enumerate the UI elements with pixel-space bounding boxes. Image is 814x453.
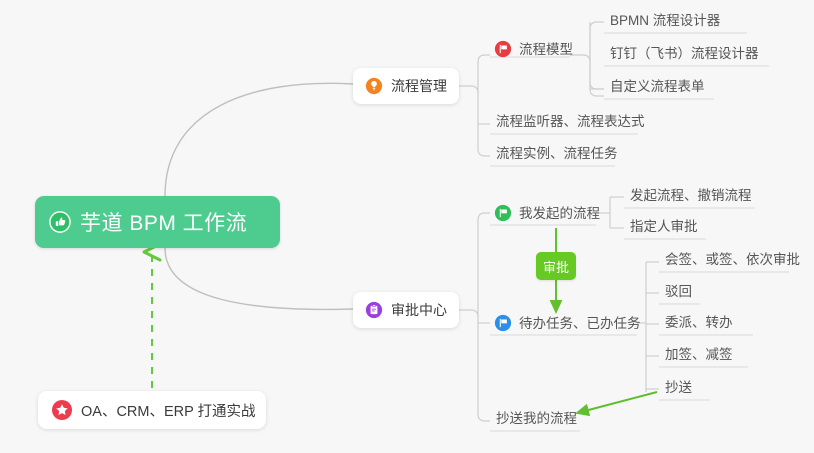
- edge-process-to-model: [478, 55, 490, 93]
- edge-approval-to-mine: [478, 213, 490, 317]
- leaf-custom-process-form-label: 自定义流程表单: [610, 79, 705, 94]
- leaf-add-remove-sign-label: 加签、减签: [665, 347, 733, 362]
- leaf-instance-task-label: 流程实例、流程任务: [496, 146, 618, 161]
- leaf-process-model[interactable]: 流程模型: [492, 40, 577, 62]
- card-integration-practice[interactable]: OA、CRM、ERP 打通实战: [38, 391, 266, 429]
- leaf-bpmn-designer-label: BPMN 流程设计器: [610, 13, 720, 28]
- leaf-todo-done-tasks[interactable]: 待办任务、已办任务: [492, 314, 645, 336]
- leaf-assignee-approve-label: 指定人审批: [630, 219, 698, 234]
- branch-label-process-management: 流程管理: [391, 76, 447, 96]
- edge-root-to-process: [165, 83, 353, 196]
- edge-approval-bus: [459, 310, 490, 421]
- leaf-my-initiated-label: 我发起的流程: [519, 205, 600, 222]
- leaf-cc[interactable]: 抄送: [661, 379, 696, 400]
- leaf-dingtalk-feishu-designer[interactable]: 钉钉（飞书）流程设计器: [606, 45, 763, 66]
- branch-label-approval-center: 审批中心: [391, 300, 447, 320]
- thumbs-up-icon: [49, 211, 71, 233]
- leaf-custom-process-form[interactable]: 自定义流程表单: [606, 78, 709, 99]
- clipboard-icon: [365, 301, 383, 319]
- leaf-countersign[interactable]: 会签、或签、依次审批: [661, 251, 804, 272]
- leaf-reject[interactable]: 驳回: [661, 283, 696, 304]
- leaf-assignee-approve[interactable]: 指定人审批: [626, 218, 702, 239]
- leaf-start-cancel-label: 发起流程、撤销流程: [630, 188, 752, 203]
- flag-blue-icon: [494, 314, 512, 332]
- branch-card-process-management[interactable]: 流程管理: [353, 68, 459, 104]
- leaf-delegate-transfer-label: 委派、转办: [665, 315, 733, 330]
- leaf-cc-to-me[interactable]: 抄送我的流程: [492, 410, 581, 431]
- flag-red-icon: [494, 40, 512, 58]
- leaf-cc-to-me-label: 抄送我的流程: [496, 411, 577, 426]
- leaf-start-cancel[interactable]: 发起流程、撤销流程: [626, 187, 756, 208]
- flag-green-icon: [494, 204, 512, 222]
- leaf-delegate-transfer[interactable]: 委派、转办: [661, 314, 737, 335]
- leaf-dingtalk-feishu-designer-label: 钉钉（飞书）流程设计器: [610, 46, 759, 61]
- edge-model-to-selfform: [590, 82, 604, 96]
- leaf-todo-done-tasks-label: 待办任务、已办任务: [519, 315, 641, 332]
- edge-cc-to-ccme: [577, 392, 657, 413]
- star-icon: [51, 399, 73, 421]
- root-node[interactable]: 芋道 BPM 工作流: [35, 196, 280, 248]
- leaf-process-model-label: 流程模型: [519, 41, 573, 58]
- edge-model-to-bpmn: [590, 22, 604, 62]
- edge-model-to-custom: [590, 82, 604, 96]
- leaf-countersign-label: 会签、或签、依次审批: [665, 252, 800, 267]
- leaf-listener-expression[interactable]: 流程监听器、流程表达式: [492, 113, 649, 134]
- edge-root-to-approval: [165, 248, 353, 309]
- leaf-cc-label: 抄送: [665, 380, 692, 395]
- root-label: 芋道 BPM 工作流: [80, 207, 247, 237]
- leaf-reject-label: 驳回: [665, 284, 692, 299]
- leaf-add-remove-sign[interactable]: 加签、减签: [661, 346, 737, 367]
- leaf-bpmn-designer[interactable]: BPMN 流程设计器: [606, 12, 724, 33]
- badge-approve-label: 审批: [543, 257, 569, 276]
- lightbulb-icon: [365, 77, 383, 95]
- branch-card-approval-center[interactable]: 审批中心: [353, 292, 459, 328]
- card-integration-label: OA、CRM、ERP 打通实战: [81, 400, 256, 421]
- edge-process-bus: [459, 86, 490, 156]
- mindmap-canvas: 芋道 BPM 工作流 流程管理 审批中心: [0, 0, 814, 453]
- leaf-instance-task[interactable]: 流程实例、流程任务: [492, 145, 622, 166]
- leaf-listener-expression-label: 流程监听器、流程表达式: [496, 114, 645, 129]
- badge-approve[interactable]: 审批: [536, 252, 576, 280]
- leaf-my-initiated[interactable]: 我发起的流程: [492, 204, 604, 226]
